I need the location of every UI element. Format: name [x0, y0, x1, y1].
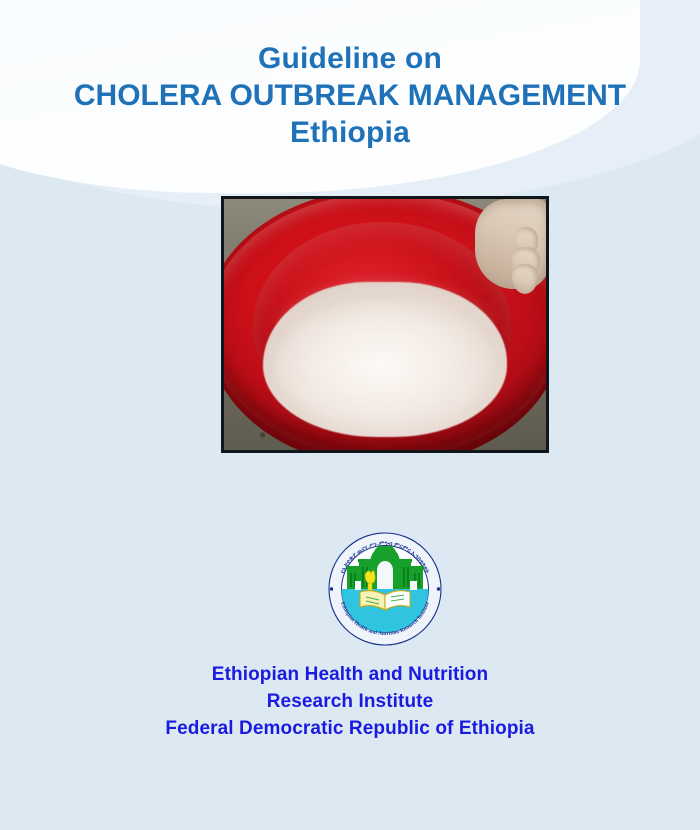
cover-title-block: Guideline on CHOLERA OUTBREAK MANAGEMENT… — [0, 40, 700, 152]
title-line-2: CHOLERA OUTBREAK MANAGEMENT — [0, 77, 700, 114]
document-cover-page: Guideline on CHOLERA OUTBREAK MANAGEMENT… — [0, 0, 700, 830]
organization-line-3: Federal Democratic Republic of Ethiopia — [0, 716, 700, 743]
organization-line-1: Ethiopian Health and Nutrition — [0, 662, 700, 689]
institute-logo: የኢትዮጵያ ጤናና ሥነ-ምግብ ምርምር ኢንስቲትዩት Ethiopian… — [325, 529, 445, 649]
title-line-3: Ethiopia — [0, 114, 700, 151]
photo-background-floor — [224, 199, 546, 450]
organization-line-2: Research Institute — [0, 689, 700, 716]
cover-photograph — [221, 196, 549, 453]
organization-block: Ethiopian Health and Nutrition Research … — [0, 662, 700, 743]
title-line-1: Guideline on — [0, 40, 700, 77]
institute-logo-icon: የኢትዮጵያ ጤናና ሥነ-ምግብ ምርምር ኢንስቲትዩት Ethiopian… — [325, 529, 445, 649]
rice-water-liquid-highlight — [276, 299, 495, 430]
